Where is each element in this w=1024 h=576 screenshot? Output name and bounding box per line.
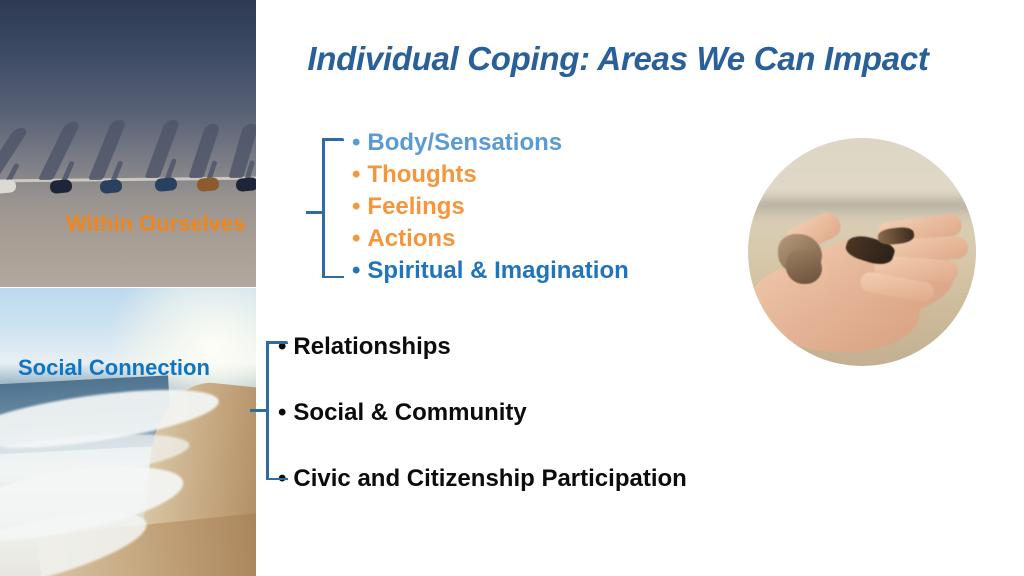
list-item: •Thoughts <box>352 159 629 191</box>
horizon-blur <box>748 200 976 216</box>
slide-canvas: Within Ourselves Social Connection Indiv… <box>0 0 1024 576</box>
list-item: •Spiritual & Imagination <box>352 255 629 287</box>
list-item-label: Body/Sensations <box>367 129 562 156</box>
bullet-dot: • <box>352 161 360 188</box>
bullet-list-social-connection: •Relationships •Social & Community •Civi… <box>278 330 687 528</box>
brace-arm-bottom <box>266 478 288 481</box>
bullet-dot: • <box>352 225 360 252</box>
hand-holding-seashells-photo <box>748 138 976 366</box>
list-item-label: Actions <box>367 225 455 252</box>
brace-spine <box>322 138 325 278</box>
list-item-label: Thoughts <box>367 161 476 188</box>
list-item: •Social & Community <box>278 396 687 462</box>
bullet-dot: • <box>352 129 360 156</box>
list-item-label: Spiritual & Imagination <box>367 257 628 284</box>
list-item-label: Social & Community <box>293 399 526 426</box>
beach-shoreline-photo <box>0 288 256 576</box>
group-label-social-connection: Social Connection <box>18 355 210 381</box>
slide-title: Individual Coping: Areas We Can Impact <box>268 40 968 78</box>
list-item: •Actions <box>352 223 629 255</box>
seashell <box>786 250 822 284</box>
brace-nub <box>306 211 323 214</box>
brace-arm-top <box>266 341 288 344</box>
people-walking-aerial-photo <box>0 0 256 287</box>
list-item: •Feelings <box>352 191 629 223</box>
brace-arm-top <box>322 138 344 141</box>
list-item: •Civic and Citizenship Participation <box>278 462 687 528</box>
bullet-dot: • <box>352 193 360 220</box>
list-item-label: Relationships <box>293 333 450 360</box>
brace-within-ourselves <box>314 138 346 278</box>
brace-arm-bottom <box>322 276 344 279</box>
bullet-dot: • <box>352 257 360 284</box>
list-item-label: Feelings <box>367 193 464 220</box>
group-label-within-ourselves: Within Ourselves <box>66 211 246 237</box>
brace-social-connection <box>258 341 288 480</box>
brace-nub <box>250 409 267 412</box>
bullet-list-within-ourselves: •Body/Sensations •Thoughts •Feelings •Ac… <box>352 127 629 287</box>
list-item: •Relationships <box>278 330 687 396</box>
list-item: •Body/Sensations <box>352 127 629 159</box>
list-item-label: Civic and Citizenship Participation <box>293 465 686 492</box>
